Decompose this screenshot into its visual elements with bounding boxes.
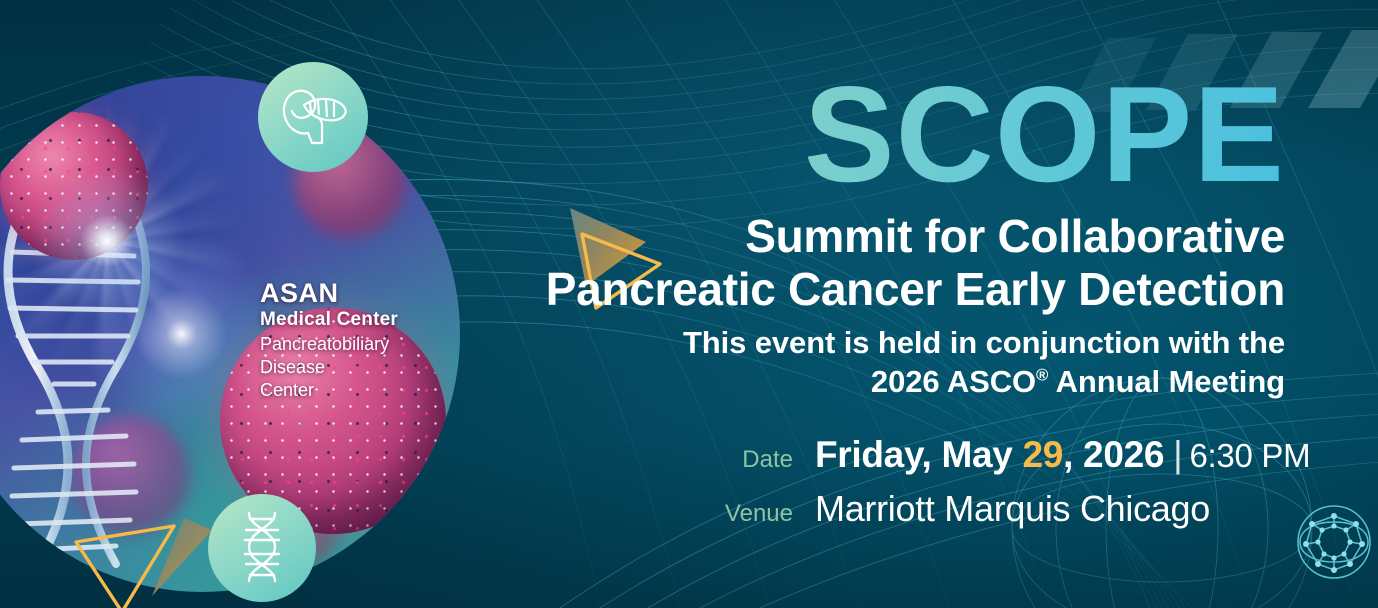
date-prefix: Friday, May	[815, 434, 1023, 475]
pancreas-badge	[258, 62, 368, 172]
asco-meeting-suffix: Annual Meeting	[1048, 364, 1285, 399]
date-value: Friday, May 29, 2026|6:30 PM	[815, 434, 1285, 476]
dna-helix-icon	[233, 509, 291, 587]
registered-trademark-symbol: ®	[1036, 366, 1048, 385]
detail-row-venue: Venue Marriott Marquis Chicago	[715, 488, 1285, 530]
event-title-line-1: Summit for Collaborative	[465, 211, 1285, 262]
light-flare-core	[2, 136, 212, 346]
date-time-divider: |	[1164, 434, 1189, 475]
event-time: 6:30 PM	[1189, 437, 1310, 474]
asan-department-line-2: Disease	[260, 356, 398, 379]
asan-org-name: ASAN	[260, 280, 398, 307]
cell-sphere-background	[72, 416, 190, 534]
date-day-highlight: 29	[1023, 434, 1064, 475]
date-label: Date	[715, 446, 793, 474]
pancreas-icon	[274, 81, 352, 153]
date-suffix: , 2026	[1063, 434, 1164, 475]
fullerene-molecule-icon	[1292, 500, 1376, 584]
venue-label: Venue	[715, 500, 793, 528]
asan-org-sub: Medical Center	[260, 310, 398, 329]
asan-department-line-1: Pancreatobiliary	[260, 333, 398, 356]
event-title-line-2: Pancreatic Cancer Early Detection	[465, 264, 1285, 315]
asan-department: Pancreatobiliary Disease Center	[260, 333, 398, 402]
asan-department-line-3: Center	[260, 379, 398, 402]
venue-value: Marriott Marquis Chicago	[815, 488, 1285, 530]
dna-badge	[208, 494, 316, 602]
banner-content: SCOPE Summit for Collaborative Pancreati…	[465, 72, 1285, 530]
asan-logo-lockup: ASAN Medical Center Pancreatobiliary Dis…	[260, 280, 398, 402]
detail-row-date: Date Friday, May 29, 2026|6:30 PM	[715, 434, 1285, 476]
event-details: Date Friday, May 29, 2026|6:30 PM Venue …	[715, 434, 1285, 530]
asco-meeting-prefix: 2026 ASCO	[871, 364, 1036, 399]
event-subtitle-line-1: This event is held in conjunction with t…	[465, 324, 1285, 363]
event-subtitle-line-2: 2026 ASCO® Annual Meeting	[465, 363, 1285, 402]
event-banner: ASAN Medical Center Pancreatobiliary Dis…	[0, 0, 1378, 608]
scope-wordmark: SCOPE	[465, 72, 1285, 197]
